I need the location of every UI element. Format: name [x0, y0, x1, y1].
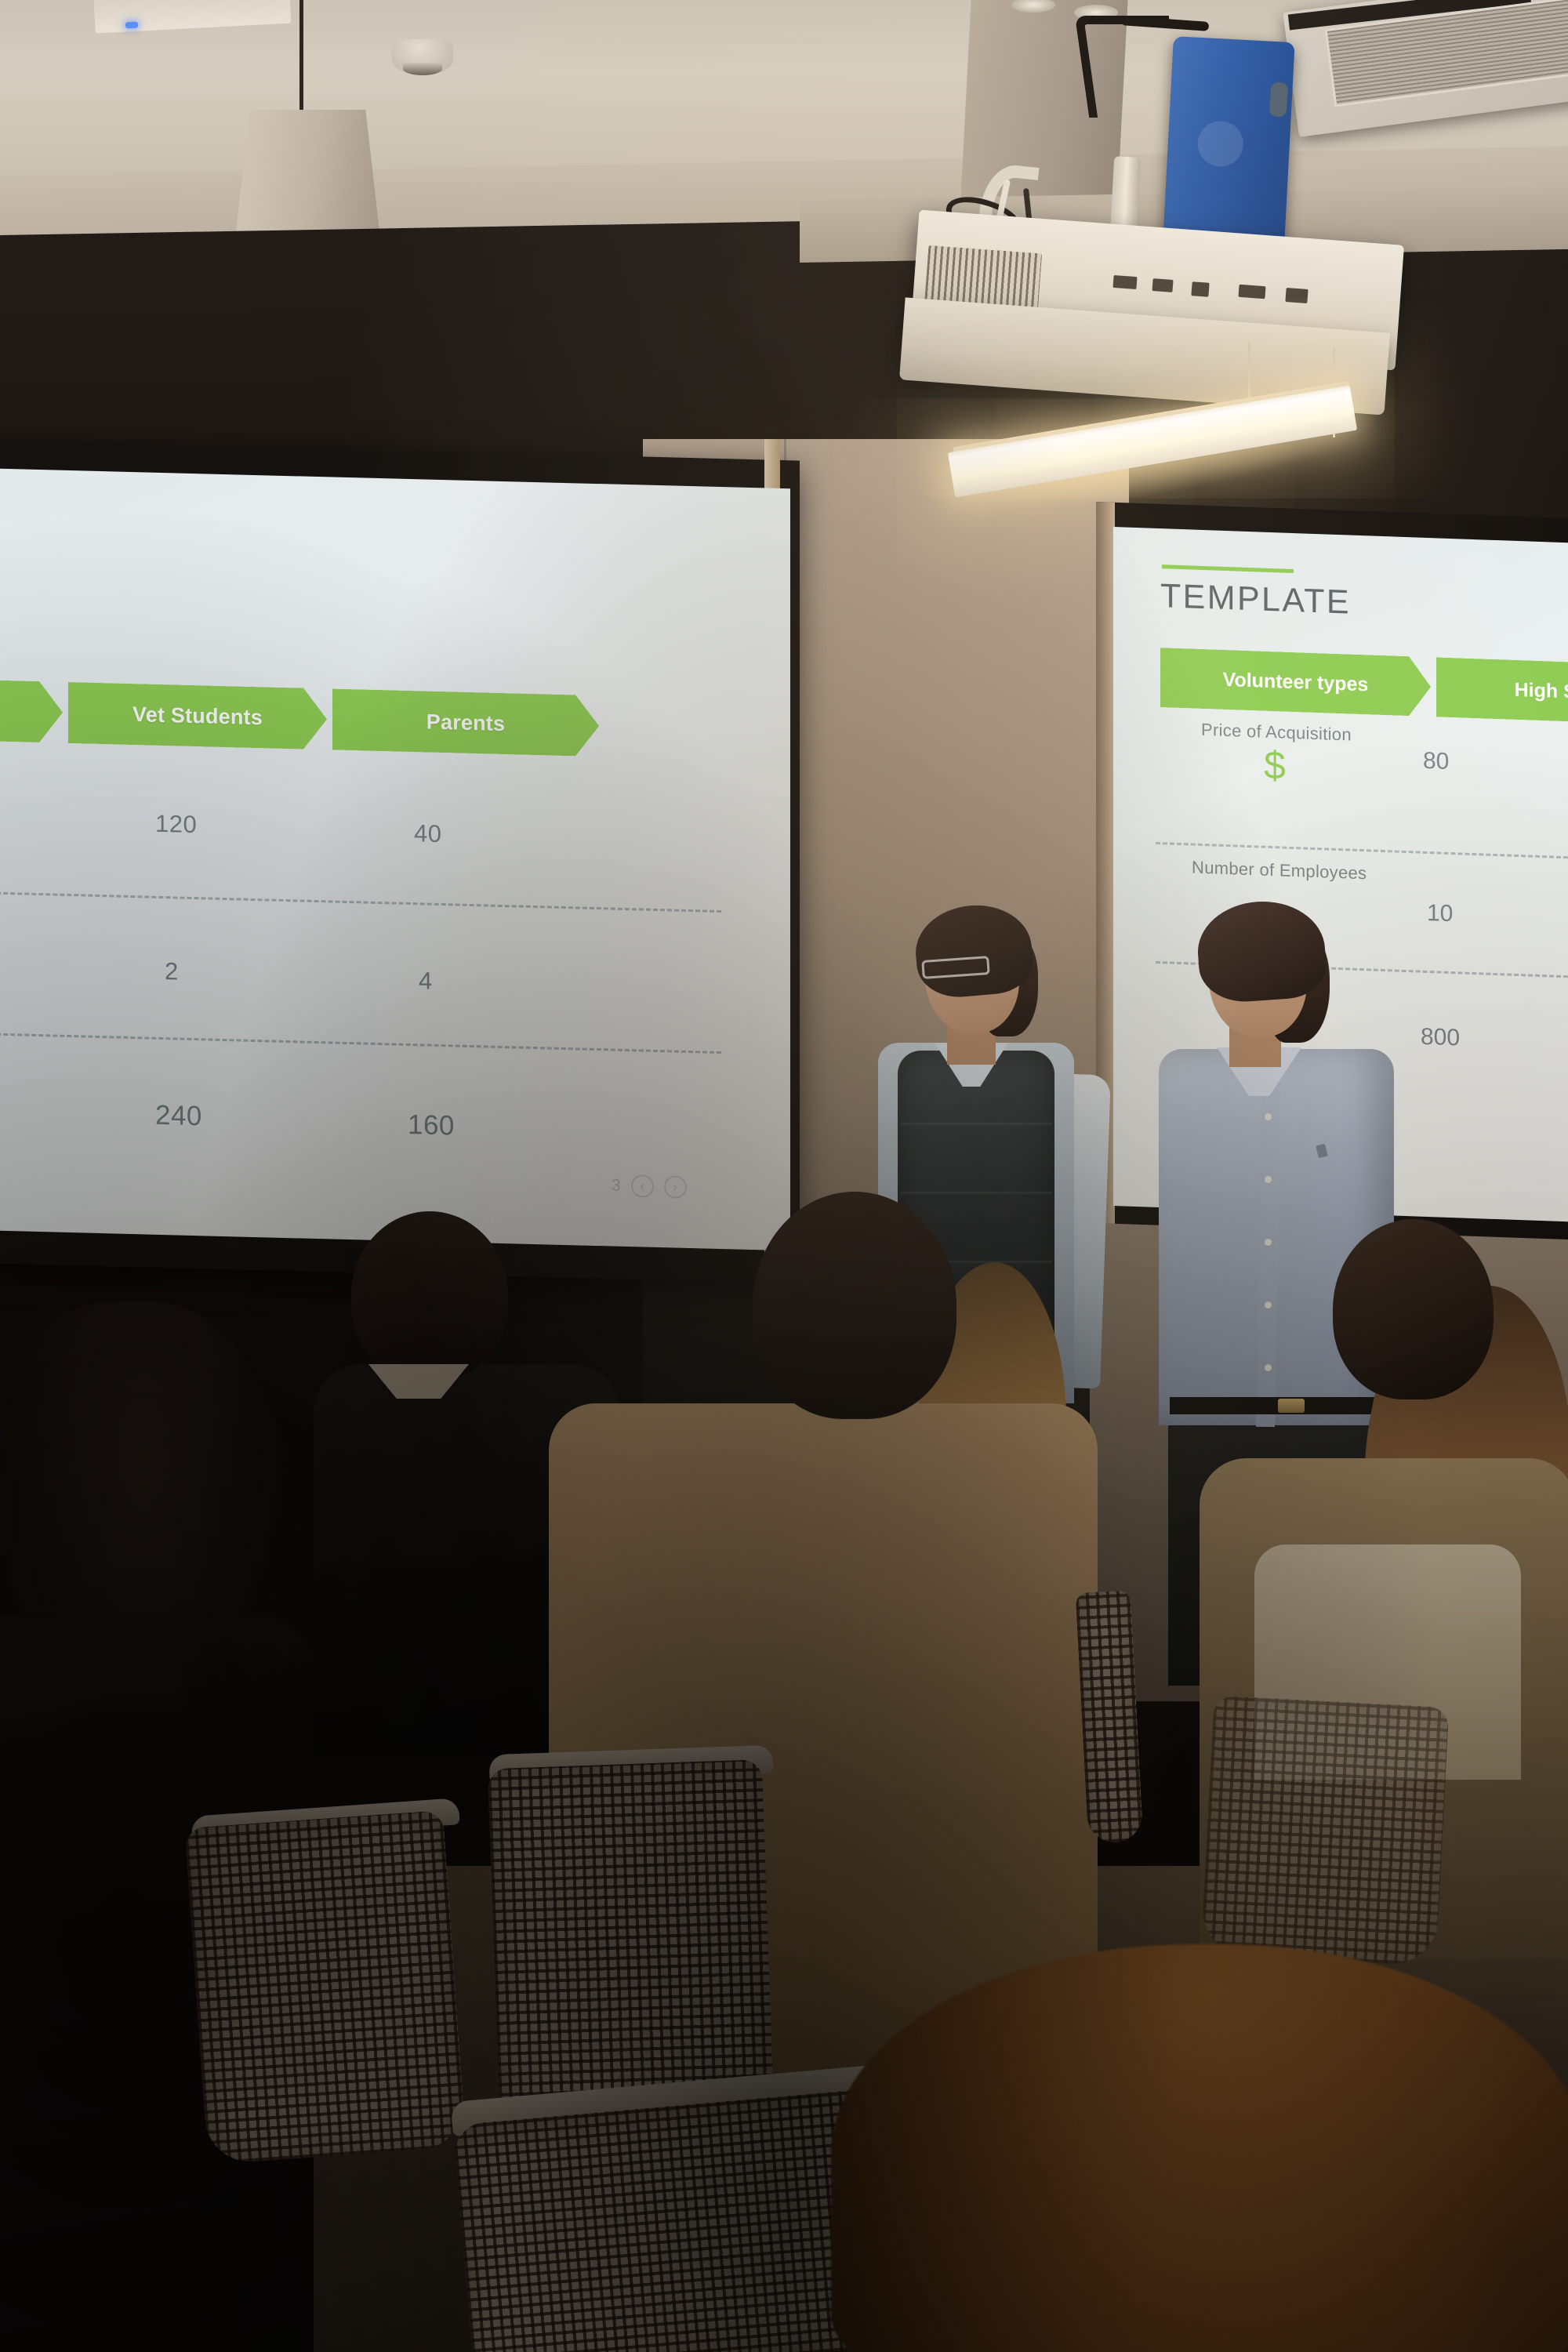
slide-title: TEMPLATE: [1160, 577, 1351, 622]
table-cell: 40: [414, 819, 441, 848]
shirt-button-icon: [1265, 1113, 1272, 1120]
shirt-button-icon: [1265, 1239, 1272, 1246]
right-slide-header-row: Volunteer types High School: [1160, 648, 1568, 728]
projector-port: [1238, 285, 1265, 299]
projector-port: [1285, 288, 1308, 303]
dollar-icon: $: [1264, 742, 1286, 789]
row-label-number-of-employees: Number of Employees: [1192, 857, 1367, 884]
projector-port: [1112, 275, 1137, 289]
table-cell: 10: [1427, 900, 1453, 927]
smoke-detector-icon: [392, 39, 453, 74]
slide-page-number: 3: [612, 1176, 621, 1195]
next-slide-icon[interactable]: ›: [664, 1175, 687, 1199]
vest-seam: [900, 1192, 1052, 1194]
column-header-volunteer-types[interactable]: Volunteer types: [1160, 648, 1431, 717]
table-cell: 160: [408, 1109, 455, 1142]
prev-slide-icon[interactable]: ‹: [631, 1174, 654, 1198]
left-slide-header-row: High School Vet Students Parents: [0, 675, 698, 759]
chair-backrest: [1201, 1695, 1450, 1965]
blue-cable-reel: [1163, 36, 1294, 246]
projector-mount-bracket: [1075, 16, 1183, 118]
table-cell: 800: [1421, 1024, 1460, 1052]
audience-member-head: [351, 1211, 508, 1380]
table-cell: 240: [155, 1100, 202, 1133]
column-header-high-school[interactable]: High School: [1436, 657, 1568, 726]
row-label-price-of-acquisition: Price of Acquisition: [1201, 720, 1352, 746]
title-accent-rule: [1162, 564, 1294, 573]
column-header-parents[interactable]: Parents: [332, 689, 599, 757]
audience-member-right-head: [1333, 1219, 1494, 1399]
vest-seam: [900, 1123, 1052, 1125]
projector-port: [1152, 278, 1173, 292]
column-header-vet-students[interactable]: Vet Students: [68, 682, 327, 750]
audience-member-center-head: [753, 1192, 956, 1419]
row-divider: [0, 887, 721, 913]
column-header-high-school[interactable]: High School: [0, 675, 63, 742]
pendant-lamp-cord: [299, 0, 303, 118]
chair-backrest: [184, 1810, 466, 2165]
shirt-button-icon: [1265, 1301, 1272, 1308]
slide-navigation[interactable]: 3 ‹ ›: [612, 1174, 687, 1199]
projector-port: [1191, 281, 1209, 297]
table-cell: 4: [419, 967, 433, 995]
row-divider: [0, 1029, 721, 1054]
cable-reel-handle: [1269, 82, 1288, 117]
shirt-button-icon: [1265, 1176, 1272, 1183]
left-slide-content: High School Vet Students Parents 120 40 …: [0, 467, 790, 1250]
status-led-icon: [125, 22, 138, 29]
audience-member-foreground-head: [831, 1944, 1568, 2352]
shirt-button-icon: [1265, 1364, 1272, 1371]
belt-buckle-icon: [1278, 1399, 1305, 1413]
table-cell: 80: [1423, 748, 1449, 775]
lecture-hall-photo: High School Vet Students Parents 120 40 …: [0, 0, 1568, 2352]
table-cell: 120: [155, 810, 197, 839]
left-projection-screen[interactable]: High School Vet Students Parents 120 40 …: [0, 467, 790, 1250]
table-cell: 2: [165, 957, 179, 985]
